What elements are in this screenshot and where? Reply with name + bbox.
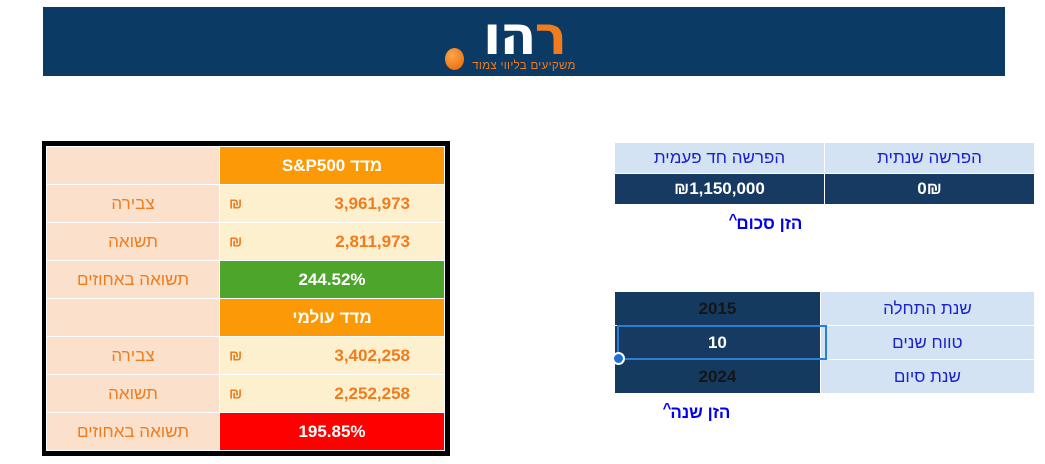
annual-contribution-input[interactable]: 0₪ bbox=[825, 174, 1035, 205]
logo-letter-resh: ר bbox=[535, 7, 566, 67]
results-table: מדד S&P500 ₪ 3,961,973 צבירה ₪ 2,811,973… bbox=[42, 141, 450, 456]
brand-banner: רהו משקיעים בליווי צמוד bbox=[43, 7, 1005, 76]
end-year-value[interactable]: 2024 bbox=[615, 360, 821, 394]
table-row: ₪ 3,402,258 צבירה bbox=[47, 337, 445, 375]
table-row: ₪ 3,961,973 צבירה bbox=[47, 185, 445, 223]
sp500-return-percent-value: 244.52% bbox=[220, 261, 445, 299]
logo: רהו משקיעים בליווי צמוד bbox=[43, 7, 1005, 76]
global-accumulation-value: ₪ 3,402,258 bbox=[220, 337, 445, 375]
global-accumulation-label: צבירה bbox=[47, 337, 220, 375]
global-return-percent-label: תשואה באחוזים bbox=[47, 413, 220, 451]
logo-tagline: משקיעים בליווי צמוד bbox=[436, 60, 612, 73]
enter-year-hint: הזן שנה^ bbox=[614, 400, 1035, 423]
table-row: 0₪ ₪1,150,000 bbox=[615, 174, 1035, 205]
sp500-return-label: תשואה bbox=[47, 223, 220, 261]
years-table: שנת התחלה 2015 טווח שנים 10 שנת סיום 202… bbox=[614, 291, 1035, 394]
shekel-icon: ₪ bbox=[229, 233, 242, 250]
start-year-label: שנת התחלה bbox=[820, 292, 1034, 326]
sp500-accumulation-value: ₪ 3,961,973 bbox=[220, 185, 445, 223]
global-return-value: ₪ 2,252,258 bbox=[220, 375, 445, 413]
table-row: שנת סיום 2024 bbox=[615, 360, 1035, 394]
contribution-panel: הפרשה שנתית הפרשה חד פעמית 0₪ ₪1,150,000… bbox=[614, 142, 1035, 234]
sp500-return-value: ₪ 2,811,973 bbox=[220, 223, 445, 261]
year-range-input[interactable]: 10 bbox=[615, 326, 821, 360]
enter-amount-hint: הזן סכום^ bbox=[614, 211, 1035, 234]
table-row: טווח שנים 10 bbox=[615, 326, 1035, 360]
table-row: מדד עולמי bbox=[47, 299, 445, 337]
annual-contribution-header: הפרשה שנתית bbox=[825, 143, 1035, 174]
shekel-icon: ₪ bbox=[229, 195, 242, 212]
start-year-value[interactable]: 2015 bbox=[615, 292, 821, 326]
table-row: ₪ 2,252,258 תשואה bbox=[47, 375, 445, 413]
index-title-sp500: מדד S&P500 bbox=[220, 147, 445, 185]
sp500-return-percent-label: תשואה באחוזים bbox=[47, 261, 220, 299]
table-row: שנת התחלה 2015 bbox=[615, 292, 1035, 326]
contribution-table: הפרשה שנתית הפרשה חד פעמית 0₪ ₪1,150,000 bbox=[614, 142, 1035, 205]
one-time-contribution-header: הפרשה חד פעמית bbox=[615, 143, 825, 174]
year-range-label: טווח שנים bbox=[820, 326, 1034, 360]
enter-amount-hint-text: הזן סכום bbox=[736, 214, 802, 233]
index-title-global: מדד עולמי bbox=[220, 299, 445, 337]
global-return-percent-value: 195.85% bbox=[220, 413, 445, 451]
shekel-icon: ₪ bbox=[229, 385, 242, 402]
table-row: ₪ 2,811,973 תשואה bbox=[47, 223, 445, 261]
logo-letters-hon: הו bbox=[483, 7, 535, 67]
spacer-cell bbox=[47, 299, 220, 337]
years-panel: שנת התחלה 2015 טווח שנים 10 שנת סיום 202… bbox=[614, 291, 1035, 423]
end-year-label: שנת סיום bbox=[820, 360, 1034, 394]
table-row: 244.52% תשואה באחוזים bbox=[47, 261, 445, 299]
table-row: מדד S&P500 bbox=[47, 147, 445, 185]
table-row: 195.85% תשואה באחוזים bbox=[47, 413, 445, 451]
global-return-label: תשואה bbox=[47, 375, 220, 413]
table-row: הפרשה שנתית הפרשה חד פעמית bbox=[615, 143, 1035, 174]
one-time-contribution-input[interactable]: ₪1,150,000 bbox=[615, 174, 825, 205]
spacer-cell bbox=[47, 147, 220, 185]
shekel-icon: ₪ bbox=[229, 347, 242, 364]
enter-year-hint-text: הזן שנה bbox=[670, 403, 730, 422]
sp500-accumulation-label: צבירה bbox=[47, 185, 220, 223]
